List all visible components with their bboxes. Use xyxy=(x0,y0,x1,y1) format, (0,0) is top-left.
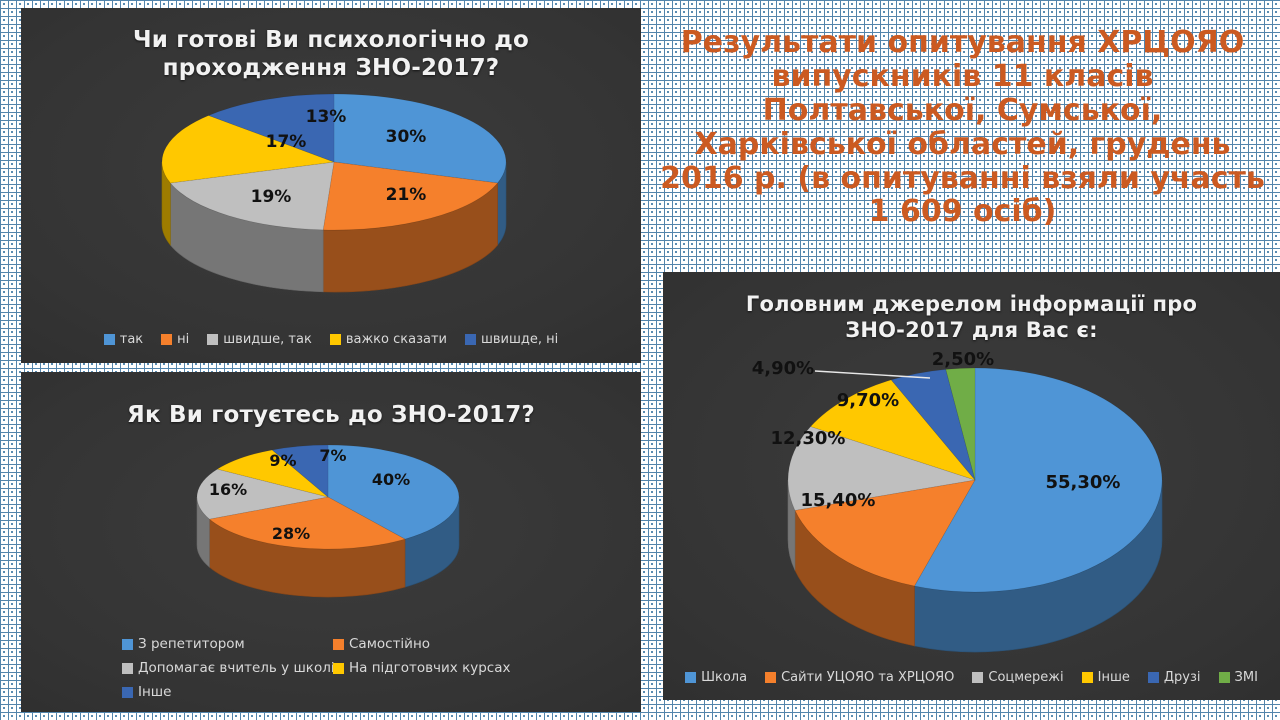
legend-item-label: важко сказати xyxy=(346,332,447,347)
legend-item[interactable]: Допомагає вчитель у школі xyxy=(122,660,327,676)
pie-data-label: 4,90% xyxy=(752,358,814,379)
legend-swatch-icon xyxy=(333,639,344,650)
legend-item-label: Друзі xyxy=(1164,670,1201,685)
legend-swatch-icon xyxy=(1219,672,1230,683)
pie-data-label: 17% xyxy=(266,132,307,152)
legend-item[interactable]: так xyxy=(104,332,143,347)
legend-swatch-icon xyxy=(765,672,776,683)
legend-swatch-icon xyxy=(330,334,341,345)
chart-title-preparation: Як Ви готуєтесь до ЗНО-2017? xyxy=(21,372,641,429)
legend-item[interactable]: З репетитором xyxy=(122,636,327,652)
chart-legend-preparation[interactable]: З репетиторомСамостійноДопомагає вчитель… xyxy=(116,632,576,704)
pie-data-label: 19% xyxy=(251,187,292,207)
pie-data-label: 13% xyxy=(306,107,347,127)
legend-item[interactable]: ЗМІ xyxy=(1219,670,1258,685)
pie-data-label: 9,70% xyxy=(837,390,899,411)
pie-data-label: 21% xyxy=(386,185,427,205)
legend-item-label: так xyxy=(120,332,143,347)
legend-item-label: швидше, так xyxy=(223,332,312,347)
legend-swatch-icon xyxy=(333,663,344,674)
legend-item-label: ЗМІ xyxy=(1235,670,1258,685)
chart-title-info-source: Головним джерелом інформації про ЗНО-201… xyxy=(663,272,1280,343)
chart-panel-readiness[interactable]: Чи готові Ви психологічно до проходження… xyxy=(21,8,641,363)
legend-item[interactable]: важко сказати xyxy=(330,332,447,347)
legend-item-label: Самостійно xyxy=(349,636,430,652)
legend-swatch-icon xyxy=(161,334,172,345)
pie-chart-readiness[interactable]: 30%21%19%17%13% xyxy=(21,90,641,350)
legend-item[interactable]: Інше xyxy=(122,684,327,700)
legend-item[interactable]: Інше xyxy=(1082,670,1130,685)
legend-item-label: швишде, ні xyxy=(481,332,558,347)
pie-data-label: 16% xyxy=(209,480,247,499)
pie-data-label: 55,30% xyxy=(1046,472,1121,493)
pie-data-label: 15,40% xyxy=(801,490,876,511)
legend-item[interactable]: Сайти УЦОЯО та ХРЦОЯО xyxy=(765,670,954,685)
legend-item-label: Сайти УЦОЯО та ХРЦОЯО xyxy=(781,670,954,685)
chart-legend-info-source[interactable]: ШколаСайти УЦОЯО та ХРЦОЯОСоцмережіІншеД… xyxy=(663,668,1280,687)
legend-item[interactable]: Соцмережі xyxy=(972,670,1063,685)
pie-data-label: 2,50% xyxy=(932,349,994,370)
legend-item[interactable]: Школа xyxy=(685,670,747,685)
legend-swatch-icon xyxy=(685,672,696,683)
pie-data-label: 40% xyxy=(372,470,410,489)
chart-panel-info-source[interactable]: Головним джерелом інформації про ЗНО-201… xyxy=(663,272,1280,700)
legend-item-label: Школа xyxy=(701,670,747,685)
legend-item[interactable]: На підготовчих курсах xyxy=(333,660,538,676)
legend-item[interactable]: ні xyxy=(161,332,189,347)
chart-legend-readiness[interactable]: такнішвидше, такважко сказатишвишде, ні xyxy=(21,330,641,349)
legend-swatch-icon xyxy=(972,672,983,683)
legend-swatch-icon xyxy=(465,334,476,345)
legend-swatch-icon xyxy=(104,334,115,345)
pie-data-label: 30% xyxy=(386,127,427,147)
legend-item-label: ні xyxy=(177,332,189,347)
legend-item-label: Інше xyxy=(138,684,171,700)
legend-item[interactable]: Друзі xyxy=(1148,670,1201,685)
legend-item-label: Допомагає вчитель у школі xyxy=(138,660,335,676)
pie-data-label: 12,30% xyxy=(771,428,846,449)
legend-item-label: З репетитором xyxy=(138,636,245,652)
pie-data-label: 28% xyxy=(272,524,310,543)
chart-panel-preparation[interactable]: Як Ви готуєтесь до ЗНО-2017? 40%28%16%9%… xyxy=(21,372,641,712)
pie-data-label: 9% xyxy=(269,451,296,470)
legend-item-label: Соцмережі xyxy=(988,670,1063,685)
chart-title-readiness: Чи готові Ви психологічно до проходження… xyxy=(21,8,641,82)
legend-item[interactable]: швишде, ні xyxy=(465,332,558,347)
legend-item[interactable]: Самостійно xyxy=(333,636,538,652)
legend-swatch-icon xyxy=(122,663,133,674)
page-title: Результати опитування ХРЦОЯО випускників… xyxy=(645,4,1280,229)
pie-data-label: 7% xyxy=(319,446,346,465)
legend-swatch-icon xyxy=(122,639,133,650)
legend-swatch-icon xyxy=(122,687,133,698)
legend-item-label: На підготовчих курсах xyxy=(349,660,511,676)
legend-item[interactable]: швидше, так xyxy=(207,332,312,347)
slide-headline-block: Результати опитування ХРЦОЯО випускників… xyxy=(645,4,1280,270)
legend-swatch-icon xyxy=(207,334,218,345)
legend-swatch-icon xyxy=(1082,672,1093,683)
legend-item-label: Інше xyxy=(1098,670,1130,685)
legend-swatch-icon xyxy=(1148,672,1159,683)
pie-chart-info-source[interactable]: 55,30%15,40%12,30%9,70%4,90%2,50% xyxy=(663,360,1280,700)
